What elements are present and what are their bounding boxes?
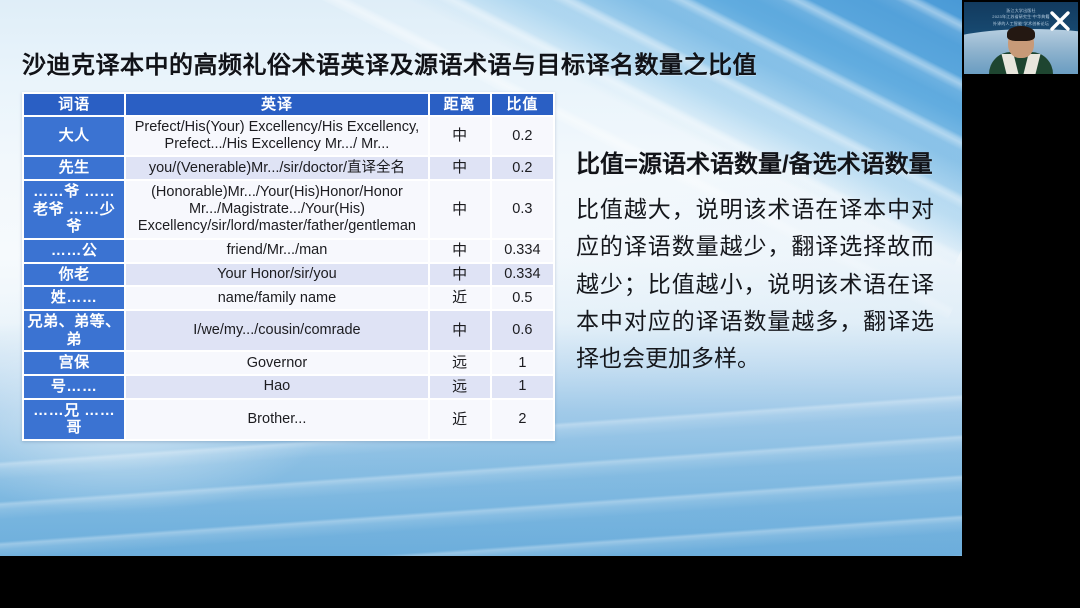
cell-distance: 中 xyxy=(430,117,490,155)
cell-ratio: 0.6 xyxy=(492,311,553,350)
cell-distance: 中 xyxy=(430,157,490,179)
cell-ratio: 0.334 xyxy=(492,240,553,262)
cell-translation: I/we/my.../cousin/comrade xyxy=(126,311,427,350)
table-row: ……公 friend/Mr.../man 中 0.334 xyxy=(24,240,553,262)
table-header-row: 词语 英译 距离 比值 xyxy=(24,94,553,115)
presentation-slide: 沙迪克译本中的高频礼俗术语英译及源语术语与目标译名数量之比值 词语 英译 距离 … xyxy=(0,0,962,556)
table-row: 姓…… name/family name 近 0.5 xyxy=(24,287,553,309)
cell-term: 大人 xyxy=(24,117,124,155)
cell-ratio: 0.3 xyxy=(492,181,553,238)
slide-notes-block: 比值=源语术语数量/备选术语数量 比值越大，说明该术语在译本中对应的译语数量越少… xyxy=(576,146,934,377)
close-icon[interactable] xyxy=(1048,9,1072,33)
table-row: 宫保 Governor 远 1 xyxy=(24,352,553,374)
table-row: 兄弟、弟等、弟 I/we/my.../cousin/comrade 中 0.6 xyxy=(24,311,553,350)
cell-distance: 中 xyxy=(430,264,490,286)
cell-ratio: 0.5 xyxy=(492,287,553,309)
cell-ratio: 0.2 xyxy=(492,157,553,179)
column-header-ratio: 比值 xyxy=(492,94,553,115)
table-row: ……爷 ……老爷 ……少爷 (Honorable)Mr.../Your(His)… xyxy=(24,181,553,238)
cell-ratio: 1 xyxy=(492,352,553,374)
cell-translation: name/family name xyxy=(126,287,427,309)
table-row: ……兄 ……哥 Brother... 近 2 xyxy=(24,400,553,439)
cell-distance: 中 xyxy=(430,181,490,238)
cell-distance: 近 xyxy=(430,287,490,309)
column-header-translation: 英译 xyxy=(126,94,427,115)
cell-distance: 远 xyxy=(430,376,490,398)
cell-ratio: 2 xyxy=(492,400,553,439)
cell-translation: Your Honor/sir/you xyxy=(126,264,427,286)
cell-distance: 中 xyxy=(430,311,490,350)
screen-share-viewport: 沙迪克译本中的高频礼俗术语英译及源语术语与目标译名数量之比值 词语 英译 距离 … xyxy=(0,0,1080,608)
cell-distance: 中 xyxy=(430,240,490,262)
cell-distance: 远 xyxy=(430,352,490,374)
cell-ratio: 0.334 xyxy=(492,264,553,286)
ratio-formula-text: 比值=源语术语数量/备选术语数量 xyxy=(576,146,934,183)
cell-term: 姓…… xyxy=(24,287,124,309)
cell-term: ……公 xyxy=(24,240,124,262)
cell-ratio: 0.2 xyxy=(492,117,553,155)
cell-translation: friend/Mr.../man xyxy=(126,240,427,262)
table-row: 你老 Your Honor/sir/you 中 0.334 xyxy=(24,264,553,286)
table-row: 先生 you/(Venerable)Mr.../sir/doctor/直译全名 … xyxy=(24,157,553,179)
cell-translation: Hao xyxy=(126,376,427,398)
cell-translation: (Honorable)Mr.../Your(His)Honor/Honor Mr… xyxy=(126,181,427,238)
cell-translation: Prefect/His(Your) Excellency/His Excelle… xyxy=(126,117,427,155)
cell-term: 号…… xyxy=(24,376,124,398)
pip-bottom-letterbox xyxy=(962,74,1080,90)
table-body: 大人 Prefect/His(Your) Excellency/His Exce… xyxy=(24,117,553,439)
cell-term: 你老 xyxy=(24,264,124,286)
cell-translation: Governor xyxy=(126,352,427,374)
cell-term: ……爷 ……老爷 ……少爷 xyxy=(24,181,124,238)
cell-ratio: 1 xyxy=(492,376,553,398)
terminology-table: 词语 英译 距离 比值 大人 Prefect/His(Your) Excelle… xyxy=(22,92,555,441)
speaker-hair xyxy=(1007,26,1035,41)
cell-term: 宫保 xyxy=(24,352,124,374)
cell-translation: Brother... xyxy=(126,400,427,439)
notes-body-text: 比值越大，说明该术语在译本中对应的译语数量越少，翻译选择故而越少；比值越小，说明… xyxy=(576,191,934,377)
cell-term: 先生 xyxy=(24,157,124,179)
table-row: 大人 Prefect/His(Your) Excellency/His Exce… xyxy=(24,117,553,155)
cell-term: ……兄 ……哥 xyxy=(24,400,124,439)
column-header-term: 词语 xyxy=(24,94,124,115)
slide-title: 沙迪克译本中的高频礼俗术语英译及源语术语与目标译名数量之比值 xyxy=(22,45,757,80)
cell-translation: you/(Venerable)Mr.../sir/doctor/直译全名 xyxy=(126,157,427,179)
cell-distance: 近 xyxy=(430,400,490,439)
table-row: 号…… Hao 远 1 xyxy=(24,376,553,398)
cell-term: 兄弟、弟等、弟 xyxy=(24,311,124,350)
column-header-distance: 距离 xyxy=(430,94,490,115)
